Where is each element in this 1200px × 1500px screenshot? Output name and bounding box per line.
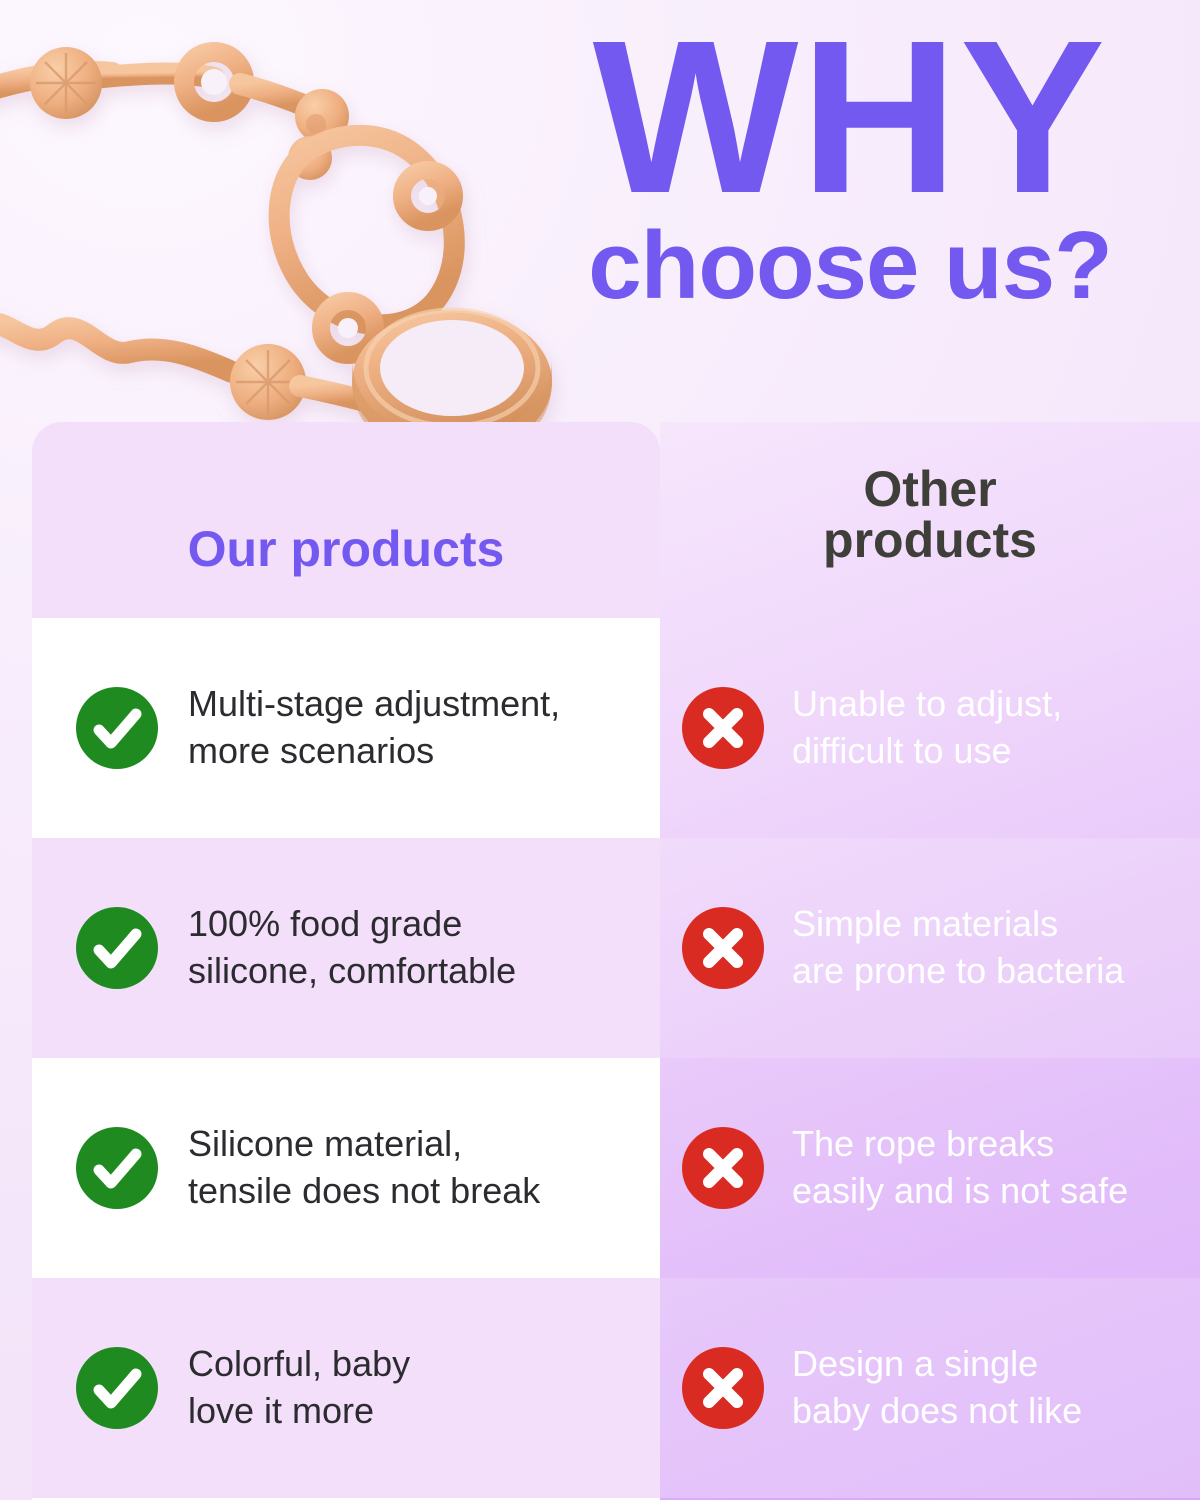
list-item: Simple materials are prone to bacteria — [660, 838, 1200, 1058]
hero-line-why: WHY — [520, 22, 1180, 214]
our-products-header: Our products — [32, 422, 660, 618]
list-item: 100% food grade silicone, comfortable — [32, 838, 660, 1058]
our-products-title: Our products — [188, 520, 505, 578]
check-circle-icon — [76, 1127, 158, 1209]
our-product-benefit: 100% food grade silicone, comfortable — [188, 901, 516, 995]
cross-circle-icon — [682, 1347, 764, 1429]
list-item: Multi-stage adjustment, more scenarios — [32, 618, 660, 838]
hero-line-choose-us: choose us? — [520, 218, 1180, 314]
other-product-drawback: Unable to adjust, difficult to use — [792, 681, 1062, 775]
other-products-title: Other products — [660, 464, 1200, 566]
list-item: Design a single baby does not like — [660, 1278, 1200, 1498]
check-circle-icon — [76, 687, 158, 769]
our-product-benefit: Silicone material, tensile does not brea… — [188, 1121, 540, 1215]
list-item: Unable to adjust, difficult to use — [660, 618, 1200, 838]
comparison-table: Our products Multi-stage adjustment, mor… — [0, 422, 1200, 1500]
check-circle-icon — [76, 907, 158, 989]
list-item: The rope breaks easily and is not safe — [660, 1058, 1200, 1278]
other-product-drawback: Simple materials are prone to bacteria — [792, 901, 1124, 995]
other-product-drawback: Design a single baby does not like — [792, 1341, 1082, 1435]
list-item: Colorful, baby love it more — [32, 1278, 660, 1498]
our-product-benefit: Multi-stage adjustment, more scenarios — [188, 681, 560, 775]
cross-circle-icon — [682, 907, 764, 989]
cross-circle-icon — [682, 687, 764, 769]
check-circle-icon — [76, 1347, 158, 1429]
our-products-column: Our products Multi-stage adjustment, mor… — [32, 422, 660, 1500]
list-item: Silicone material, tensile does not brea… — [32, 1058, 660, 1278]
other-products-header: Other products — [660, 422, 1200, 618]
other-product-drawback: The rope breaks easily and is not safe — [792, 1121, 1128, 1215]
hero-heading: WHY choose us? — [520, 22, 1180, 314]
our-product-benefit: Colorful, baby love it more — [188, 1341, 410, 1435]
cross-circle-icon — [682, 1127, 764, 1209]
other-products-column: Other products Unable to adjust, difficu… — [660, 422, 1200, 1500]
